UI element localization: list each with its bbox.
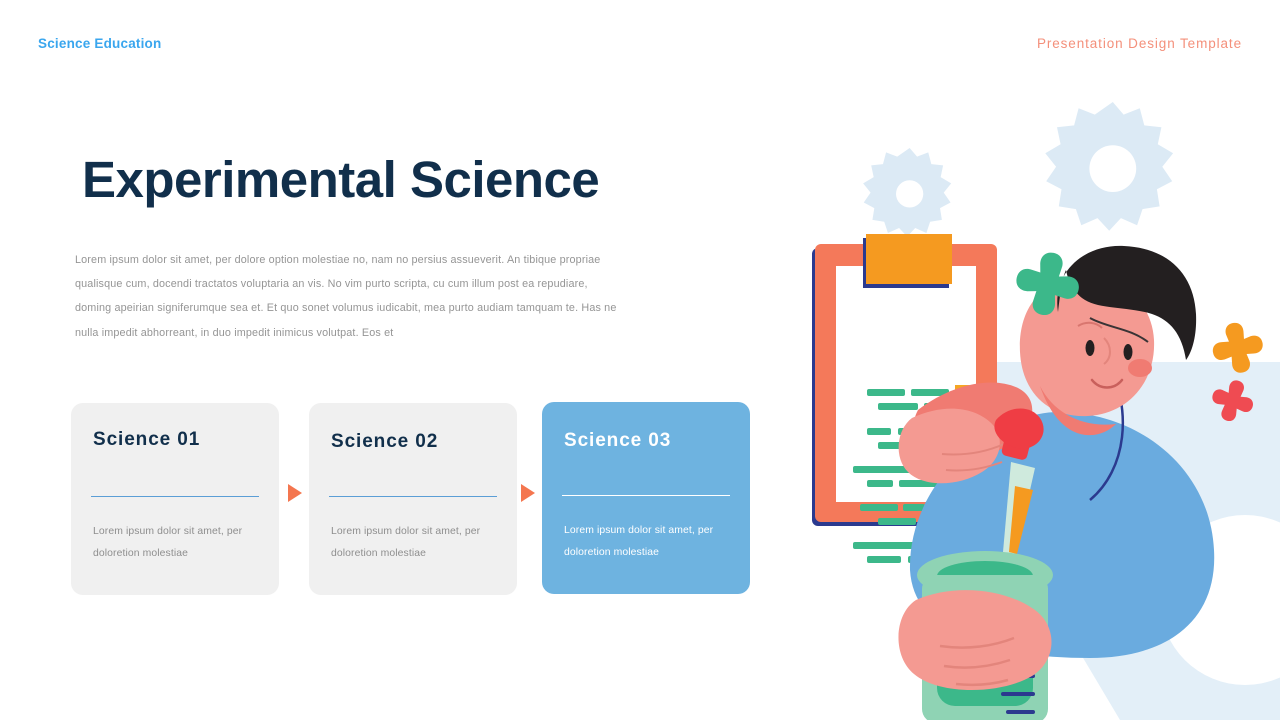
arrow-right-icon xyxy=(288,484,302,502)
card-science-01[interactable]: Science 01 Lorem ipsum dolor sit amet, p… xyxy=(71,403,279,595)
header-right-label: Presentation Design Template xyxy=(1037,36,1242,51)
gear-small-icon xyxy=(863,148,951,237)
gear-large-icon xyxy=(1045,102,1173,231)
card-body: Lorem ipsum dolor sit amet, per doloreti… xyxy=(564,520,736,564)
eye-right xyxy=(1124,344,1133,360)
card-science-03[interactable]: Science 03 Lorem ipsum dolor sit amet, p… xyxy=(542,402,750,594)
card-divider xyxy=(91,496,259,497)
card-body: Lorem ipsum dolor sit amet, per doloreti… xyxy=(93,521,265,565)
card-divider xyxy=(562,495,730,496)
card-body: Lorem ipsum dolor sit amet, per doloreti… xyxy=(331,521,503,565)
clipboard-clip xyxy=(866,234,952,284)
header-left-label: Science Education xyxy=(38,36,161,51)
card-divider xyxy=(329,496,497,497)
page-title: Experimental Science xyxy=(82,150,599,209)
slide: Science Education Presentation Design Te… xyxy=(0,0,1280,720)
card-title: Science 03 xyxy=(564,430,671,452)
eye-left xyxy=(1086,340,1095,356)
cheek xyxy=(1128,359,1152,377)
card-science-02[interactable]: Science 02 Lorem ipsum dolor sit amet, p… xyxy=(309,403,517,595)
body-paragraph: Lorem ipsum dolor sit amet, per dolore o… xyxy=(75,248,627,345)
card-title: Science 01 xyxy=(93,429,200,451)
card-title: Science 02 xyxy=(331,431,438,453)
arrow-right-icon xyxy=(521,484,535,502)
science-illustration xyxy=(790,80,1280,720)
